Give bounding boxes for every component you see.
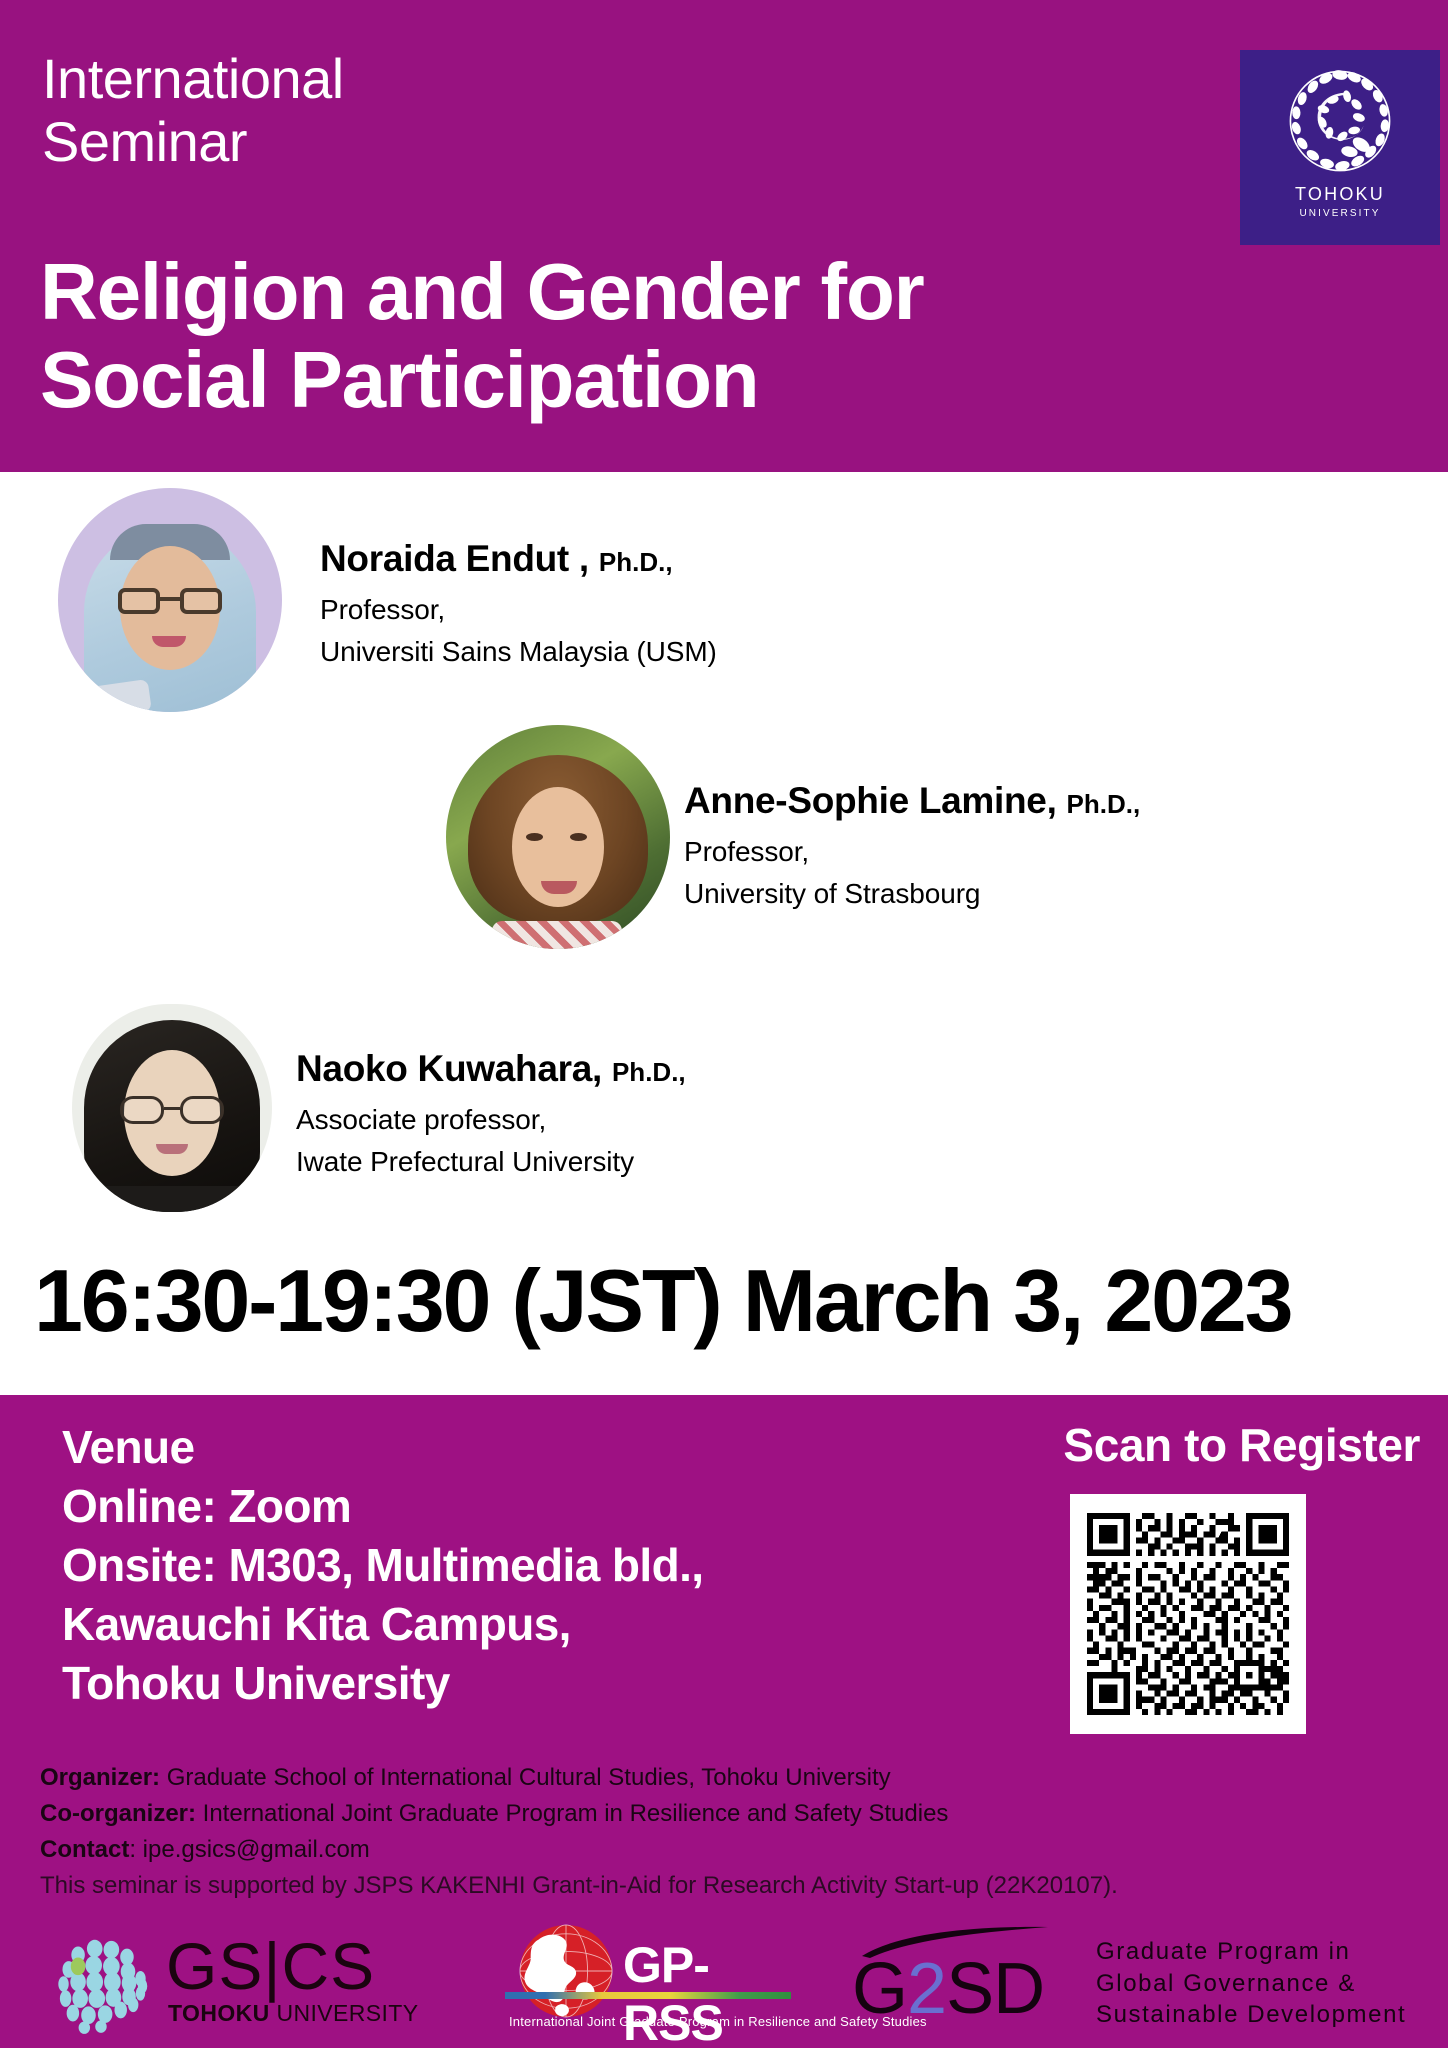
organizer-label: Organizer: <box>40 1764 160 1791</box>
gsics-subtitle: TOHOKU UNIVERSITY <box>168 2000 418 2027</box>
footer-logo-row: GS|CS TOHOKU UNIVERSITY G <box>0 1918 1448 2048</box>
speaker-title-2: Professor, <box>684 834 809 871</box>
speaker-photo-2 <box>446 725 670 949</box>
gprss-globe-icon <box>517 1922 615 2020</box>
organizer-value: Graduate School of International Cultura… <box>160 1764 891 1791</box>
funding-support-line: This seminar is supported by JSPS KAKENH… <box>40 1868 1410 1904</box>
scan-to-register-label: Scan to Register <box>1063 1418 1420 1472</box>
speaker-affiliation-3: Iwate Prefectural University <box>296 1144 634 1181</box>
page-title: Religion and Gender for Social Participa… <box>40 248 924 424</box>
speaker-name-3: Naoko Kuwahara, Ph.D., <box>296 1048 686 1090</box>
speaker-name-2: Anne-Sophie Lamine, Ph.D., <box>684 780 1140 822</box>
contact-value[interactable]: : ipe.gsics@gmail.com <box>129 1836 369 1863</box>
speaker-degree-3: Ph.D., <box>612 1057 686 1087</box>
tohoku-university-logo: TOHOKU UNIVERSITY <box>1240 50 1440 245</box>
gprss-logo: GP-RSS International Joint Graduate Prog… <box>505 1922 805 2046</box>
event-kicker: International Seminar <box>42 48 344 173</box>
fineprint-block: Organizer: Graduate School of Internatio… <box>40 1760 1410 1904</box>
g2sd-wordmark: G2SD <box>852 1948 1044 2030</box>
seminar-poster: International Seminar Religion and Gende… <box>0 0 1448 2048</box>
speaker-photo-3 <box>72 1004 272 1212</box>
coorganizer-label: Co-organizer: <box>40 1800 196 1827</box>
contact-line: Contact: ipe.gsics@gmail.com <box>40 1832 1410 1868</box>
coorganizer-line: Co-organizer: International Joint Gradua… <box>40 1796 1410 1832</box>
speaker-affiliation-1: Universiti Sains Malaysia (USM) <box>320 634 717 671</box>
speaker-name-text-3: Naoko Kuwahara, <box>296 1048 602 1089</box>
g2sd-description: Graduate Program in Global Governance & … <box>1096 1936 1406 2031</box>
tohoku-logo-subtitle: UNIVERSITY <box>1299 208 1380 219</box>
gsics-subtitle-light: UNIVERSITY <box>270 2000 419 2026</box>
speaker-title-3: Associate professor, <box>296 1102 546 1139</box>
tohoku-logo-name: TOHOKU <box>1295 184 1385 205</box>
speaker-photo-1 <box>58 488 282 712</box>
speaker-name-1: Noraida Endut , Ph.D., <box>320 538 673 580</box>
tohoku-crest-icon <box>1281 62 1399 180</box>
venue-block: Venue Online: Zoom Onsite: M303, Multime… <box>62 1418 703 1712</box>
speaker-title-1: Professor, <box>320 592 445 629</box>
speaker-affiliation-2: University of Strasbourg <box>684 876 980 913</box>
qr-code-icon <box>1087 1511 1289 1717</box>
gsics-globe-icon <box>50 1932 154 2036</box>
registration-qr-code[interactable] <box>1070 1494 1306 1734</box>
gsics-wordmark: GS|CS <box>166 1928 375 2004</box>
contact-label: Contact <box>40 1836 129 1863</box>
gsics-logo: GS|CS TOHOKU UNIVERSITY <box>50 1926 450 2042</box>
g2sd-letters-sd: SD <box>946 1949 1044 2029</box>
speaker-name-text-1: Noraida Endut , <box>320 538 589 579</box>
event-datetime: 16:30-19:30 (JST) March 3, 2023 <box>34 1250 1424 1352</box>
gprss-gradient-rule <box>505 1992 791 1999</box>
speaker-degree-2: Ph.D., <box>1067 789 1141 819</box>
g2sd-letter-2: 2 <box>907 1949 946 2029</box>
coorganizer-value: International Joint Graduate Program in … <box>196 1800 948 1827</box>
g2sd-letter-g: G <box>852 1949 907 2029</box>
speaker-degree-1: Ph.D., <box>599 547 673 577</box>
speaker-name-text-2: Anne-Sophie Lamine, <box>684 780 1057 821</box>
organizer-line: Organizer: Graduate School of Internatio… <box>40 1760 1410 1796</box>
g2sd-logo: G2SD Graduate Program in Global Governan… <box>852 1926 1412 2042</box>
gsics-subtitle-bold: TOHOKU <box>168 2000 270 2026</box>
